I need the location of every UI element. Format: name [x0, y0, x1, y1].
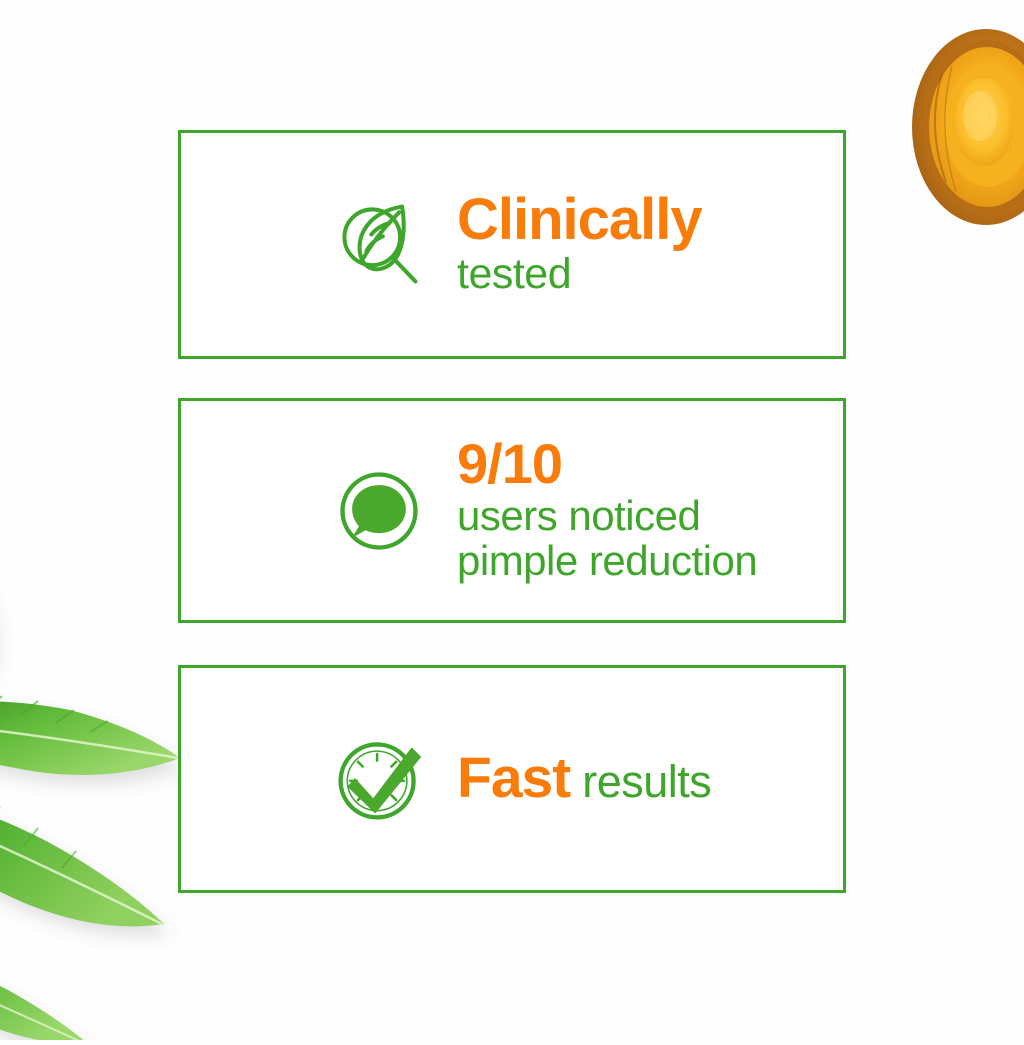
card-content: Fast results	[331, 731, 711, 827]
card-subline: tested	[457, 251, 702, 297]
turmeric-bowl-image	[908, 26, 1024, 228]
card-text: 9/10 users noticed pimple reduction	[457, 437, 757, 584]
card-headline: Fast	[457, 746, 570, 810]
card-content: 9/10 users noticed pimple reduction	[331, 437, 757, 584]
card-subline: results	[570, 756, 711, 807]
feature-card-users-noticed[interactable]: 9/10 users noticed pimple reduction	[178, 398, 846, 623]
clock-check-icon	[331, 731, 427, 827]
card-subline-2: pimple reduction	[457, 538, 757, 583]
feature-card-clinically-tested[interactable]: Clinically tested	[178, 130, 846, 359]
card-content: Clinically tested	[331, 192, 702, 297]
leaf-magnifier-icon	[331, 196, 427, 292]
feature-card-fast-results[interactable]: Fast results	[178, 665, 846, 893]
card-subline: users noticed	[457, 493, 757, 538]
card-text: Fast results	[457, 751, 711, 807]
card-headline-line: Fast results	[457, 751, 711, 807]
card-headline: 9/10	[457, 437, 757, 492]
card-headline: Clinically	[457, 192, 702, 249]
speech-bubble-circle-icon	[331, 463, 427, 559]
promo-canvas: Clinically tested 9/10 users noticed pim…	[0, 0, 1024, 1024]
card-text: Clinically tested	[457, 192, 702, 297]
